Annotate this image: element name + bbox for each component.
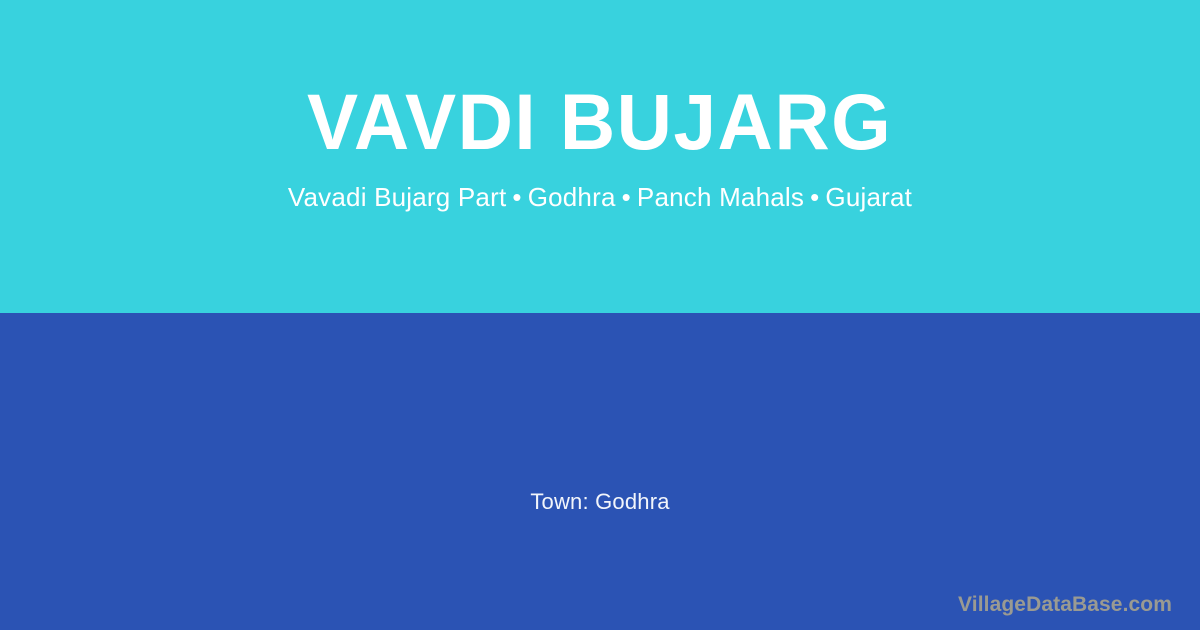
hero-banner: VAVDI BUJARG Vavadi Bujarg Part•Godhra•P…	[0, 0, 1200, 313]
page-title: VAVDI BUJARG	[307, 82, 892, 161]
breadcrumb-item-district: Panch Mahals	[637, 182, 804, 212]
breadcrumb-separator: •	[804, 182, 825, 212]
breadcrumb-separator: •	[616, 182, 637, 212]
detail-panel: Town: Godhra VillageDataBase.com	[0, 313, 1200, 630]
breadcrumb-item-taluka: Godhra	[528, 182, 616, 212]
town-detail-text: Town: Godhra	[0, 489, 1200, 515]
site-watermark: VillageDataBase.com	[958, 593, 1172, 617]
breadcrumb: Vavadi Bujarg Part•Godhra•Panch Mahals•G…	[288, 182, 912, 213]
breadcrumb-item-state: Gujarat	[825, 182, 912, 212]
breadcrumb-separator: •	[506, 182, 527, 212]
breadcrumb-item-village: Vavadi Bujarg Part	[288, 182, 506, 212]
village-info-card: VAVDI BUJARG Vavadi Bujarg Part•Godhra•P…	[0, 0, 1200, 630]
